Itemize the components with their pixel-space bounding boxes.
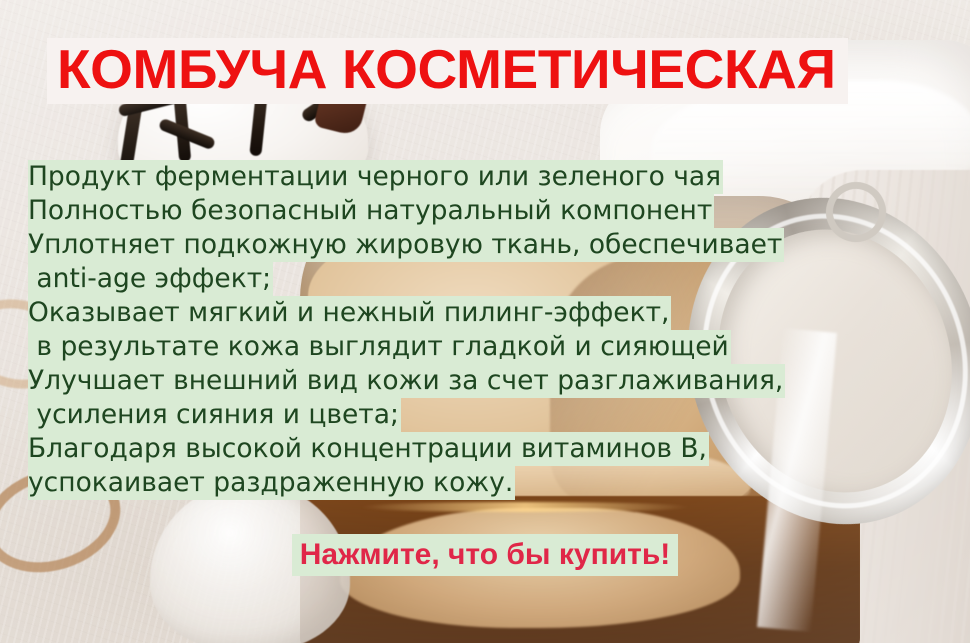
benefits-list: Продукт ферментации черного или зеленого… [28,160,918,500]
text-overlay: КОМБУЧА КОСМЕТИЧЕСКАЯ Продукт ферментаци… [0,0,970,643]
benefit-line: успокаивает раздраженную кожу. [28,466,515,500]
title-band: КОМБУЧА КОСМЕТИЧЕСКАЯ [47,38,848,104]
promo-poster: КОМБУЧА КОСМЕТИЧЕСКАЯ Продукт ферментаци… [0,0,970,643]
benefit-line: Благодаря высокой концентрации витаминов… [28,432,709,466]
benefit-line: Оказывает мягкий и нежный пилинг-эффект, [28,296,671,330]
benefit-line: усиления сияния и цвета; [28,398,401,432]
benefit-line: в результате кожа выглядит гладкой и сия… [28,330,731,364]
benefit-line: Улучшает внешний вид кожи за счет разгла… [28,364,785,398]
cta-container: Нажмите, что бы купить! [0,534,970,576]
benefit-line: Продукт ферментации черного или зеленого… [28,160,723,194]
benefit-line: Полностью безопасный натуральный компоне… [28,194,714,228]
benefit-line: Уплотняет подкожную жировую ткань, обесп… [28,228,784,262]
page-title: КОМБУЧА КОСМЕТИЧЕСКАЯ [57,40,836,98]
buy-now-cta[interactable]: Нажмите, что бы купить! [292,534,679,576]
benefit-line: anti-age эффект; [28,262,273,296]
